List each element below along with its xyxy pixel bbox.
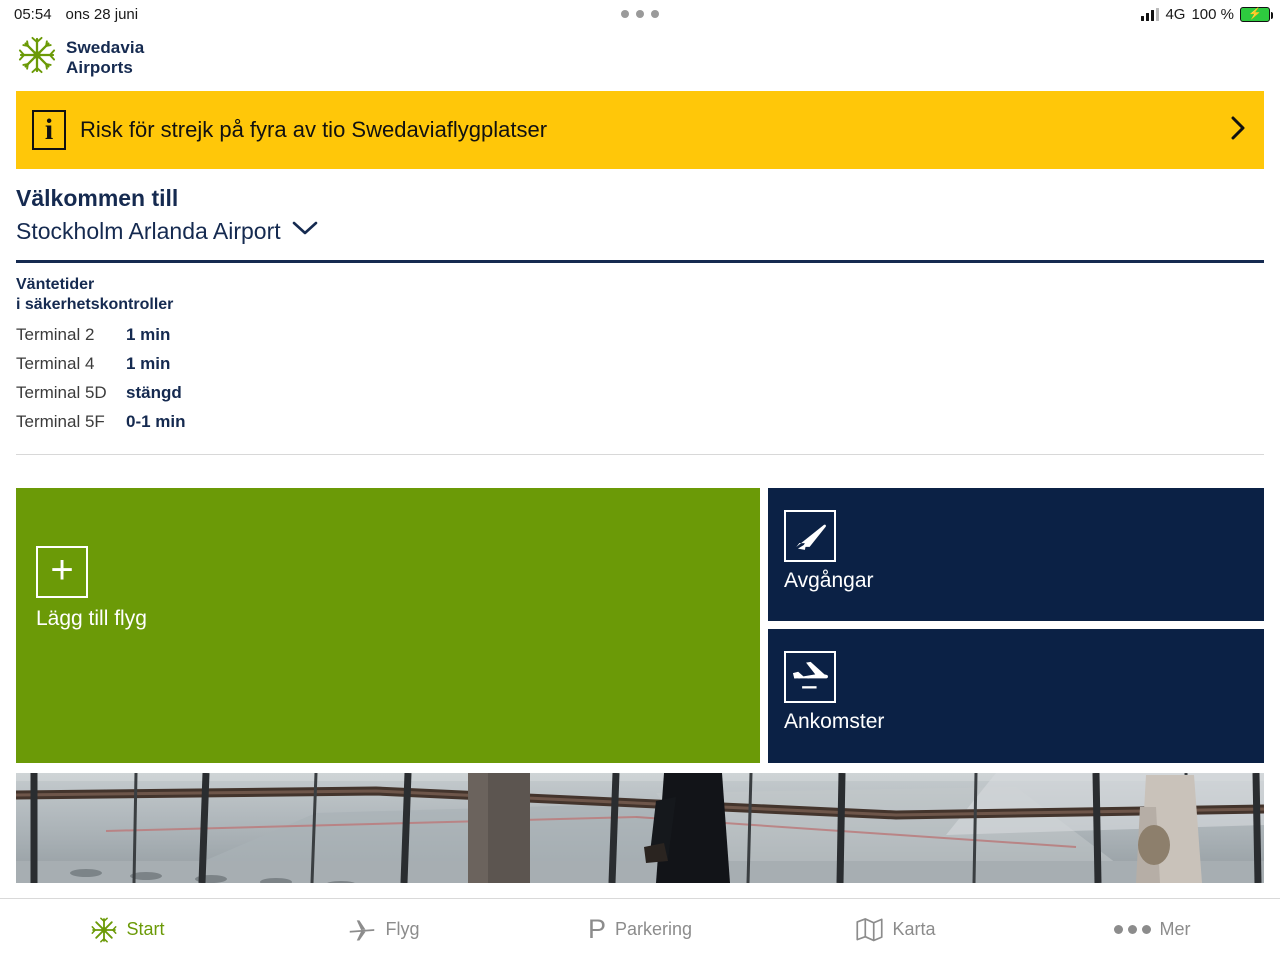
cellular-signal-icon xyxy=(1141,8,1159,21)
status-bar-network: 4G xyxy=(1165,6,1185,23)
wait-time-value: 0-1 min xyxy=(126,412,186,432)
status-bar-left: 05:54 ons 28 juni xyxy=(14,6,138,23)
map-icon xyxy=(856,917,883,942)
arrivals-tile-content: Ankomster xyxy=(784,651,884,734)
plus-glyph: + xyxy=(50,550,73,590)
arrivals-tile[interactable]: Ankomster xyxy=(768,629,1264,763)
arrivals-tile-label: Ankomster xyxy=(784,710,884,734)
bottom-tab-bar: Start Flyg P Parkering Karta Mer xyxy=(0,898,1280,960)
section-divider-light xyxy=(16,454,1264,455)
battery-charging-icon: ⚡ xyxy=(1240,7,1270,22)
quick-action-tiles: + Lägg till flyg Avgångar xyxy=(16,488,1264,763)
status-bar-time: 05:54 xyxy=(14,6,52,23)
tab-parkering-label: Parkering xyxy=(615,919,692,940)
information-icon: i xyxy=(32,110,66,150)
wait-times-title-line-2: i säkerhetskontroller xyxy=(16,295,1264,315)
wait-time-terminal: Terminal 5F xyxy=(16,412,111,432)
tab-mer-label: Mer xyxy=(1160,919,1191,940)
alert-banner[interactable]: i Risk för strejk på fyra av tio Swedavi… xyxy=(16,91,1264,169)
snowflake-icon xyxy=(91,917,117,943)
wait-time-row: Terminal 5D stängd xyxy=(16,383,1264,403)
wait-time-terminal: Terminal 4 xyxy=(16,354,111,374)
departures-tile-content: Avgångar xyxy=(784,510,874,593)
snowflake-logo-icon xyxy=(18,36,56,79)
wait-time-value: 1 min xyxy=(126,354,170,374)
brand-wordmark: Swedavia Airports xyxy=(66,38,144,76)
tab-karta[interactable]: Karta xyxy=(768,899,1024,960)
brand-header: Swedavia Airports xyxy=(0,28,1280,89)
alert-banner-text: Risk för strejk på fyra av tio Swedaviaf… xyxy=(80,117,1230,143)
brand-line-1: Swedavia xyxy=(66,38,144,57)
chevron-down-icon[interactable] xyxy=(291,219,319,242)
security-wait-times: Väntetider i säkerhetskontroller Termina… xyxy=(0,263,1280,432)
tab-mer[interactable]: Mer xyxy=(1024,899,1280,960)
departures-tile-label: Avgångar xyxy=(784,569,874,593)
wait-time-row: Terminal 2 1 min xyxy=(16,325,1264,345)
status-bar-date: ons 28 juni xyxy=(66,6,139,23)
wait-time-value: 1 min xyxy=(126,325,170,345)
three-dots-icon xyxy=(651,10,659,18)
status-bar: 05:54 ons 28 juni 4G 100 % ⚡ xyxy=(0,0,1280,28)
brand-line-2: Airports xyxy=(66,58,144,77)
tab-flyg[interactable]: Flyg xyxy=(256,899,512,960)
status-bar-center-dots xyxy=(138,10,1141,18)
tab-parkering[interactable]: P Parkering xyxy=(512,899,768,960)
wait-time-row: Terminal 5F 0-1 min xyxy=(16,412,1264,432)
welcome-greeting: Välkommen till xyxy=(16,183,1264,215)
welcome-section: Välkommen till Stockholm Arlanda Airport xyxy=(0,169,1280,247)
three-dots-icon xyxy=(636,10,644,18)
airplane-arrival-icon xyxy=(784,651,836,703)
plus-in-square-icon: + xyxy=(36,546,88,598)
airplane-departure-icon xyxy=(784,510,836,562)
wait-time-terminal: Terminal 2 xyxy=(16,325,111,345)
departures-tile[interactable]: Avgångar xyxy=(768,488,1264,622)
airport-name: Stockholm Arlanda Airport xyxy=(16,215,281,247)
airport-terminal-window-photo xyxy=(16,773,1264,883)
three-dots-icon xyxy=(1114,925,1151,934)
three-dots-icon xyxy=(621,10,629,18)
tab-start[interactable]: Start xyxy=(0,899,256,960)
status-bar-battery-percent: 100 % xyxy=(1191,6,1234,23)
airport-selector[interactable]: Stockholm Arlanda Airport xyxy=(16,215,1264,247)
parking-p-icon: P xyxy=(588,916,606,943)
tab-karta-label: Karta xyxy=(892,919,935,940)
airplane-icon xyxy=(348,916,376,944)
status-bar-right: 4G 100 % ⚡ xyxy=(1141,6,1270,23)
tab-start-label: Start xyxy=(126,919,164,940)
wait-time-terminal: Terminal 5D xyxy=(16,383,111,403)
chevron-right-icon[interactable] xyxy=(1230,114,1246,146)
wait-times-title: Väntetider i säkerhetskontroller xyxy=(16,275,1264,316)
add-flight-tile-content: + Lägg till flyg xyxy=(36,546,147,631)
add-flight-tile-label: Lägg till flyg xyxy=(36,607,147,631)
flight-tiles-column: Avgångar Ankomster xyxy=(768,488,1264,763)
tab-flyg-label: Flyg xyxy=(385,919,419,940)
wait-times-title-line-1: Väntetider xyxy=(16,275,1264,295)
add-flight-tile[interactable]: + Lägg till flyg xyxy=(16,488,760,763)
wait-time-value: stängd xyxy=(126,383,182,403)
wait-time-row: Terminal 4 1 min xyxy=(16,354,1264,374)
